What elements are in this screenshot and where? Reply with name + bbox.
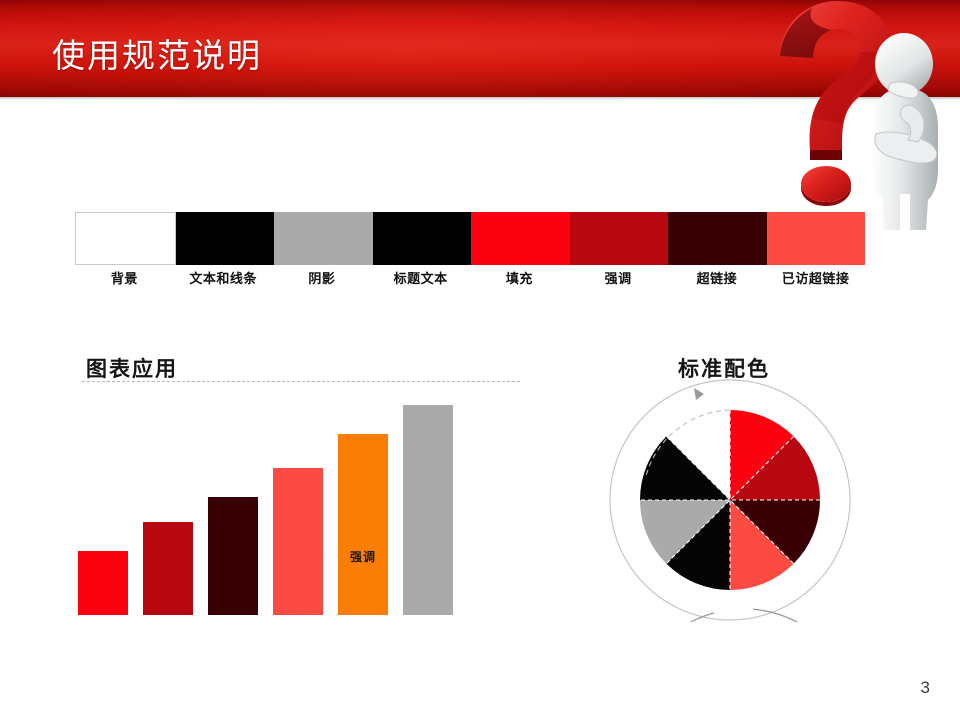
bar-1 [78,551,128,615]
palette-swatch-strip [75,212,865,265]
palette-swatch-label-6: 强调 [569,268,668,287]
palette-swatch-5 [471,212,570,265]
thinking-figure-glyph [872,33,938,230]
palette-swatch-4 [373,212,472,265]
palette-swatch-label-3: 阴影 [273,268,372,287]
bar-annotation-5: 强调 [338,548,388,565]
palette-swatch-1 [75,212,176,265]
palette-swatch-6 [570,212,669,265]
palette-swatch-label-4: 标题文本 [371,268,470,287]
palette-swatch-label-8: 已访超链接 [766,268,865,287]
palette-swatch-labels: 背景文本和线条阴影标题文本填充强调超链接已访超链接 [75,268,865,287]
slide-canvas: 使用规范说明 [0,0,960,720]
bar-4 [273,468,323,615]
question-mark-illustration [768,0,960,230]
bar-chart: 强调 [70,390,530,615]
bar-2 [143,522,193,615]
page-number: 3 [921,678,930,698]
color-wheel-chart [608,378,852,622]
palette-swatch-label-2: 文本和线条 [174,268,273,287]
palette-swatch-2 [176,212,275,265]
palette-swatch-label-1: 背景 [75,268,174,287]
palette-swatch-label-5: 填充 [470,268,569,287]
palette-swatch-7 [668,212,767,265]
bar-6 [403,405,453,615]
bar-3 [208,497,258,615]
palette-swatch-label-7: 超链接 [668,268,767,287]
chart-section-heading: 图表应用 [86,353,178,383]
palette-swatch-3 [274,212,373,265]
page-title: 使用规范说明 [52,36,262,76]
bar-5 [338,434,388,615]
